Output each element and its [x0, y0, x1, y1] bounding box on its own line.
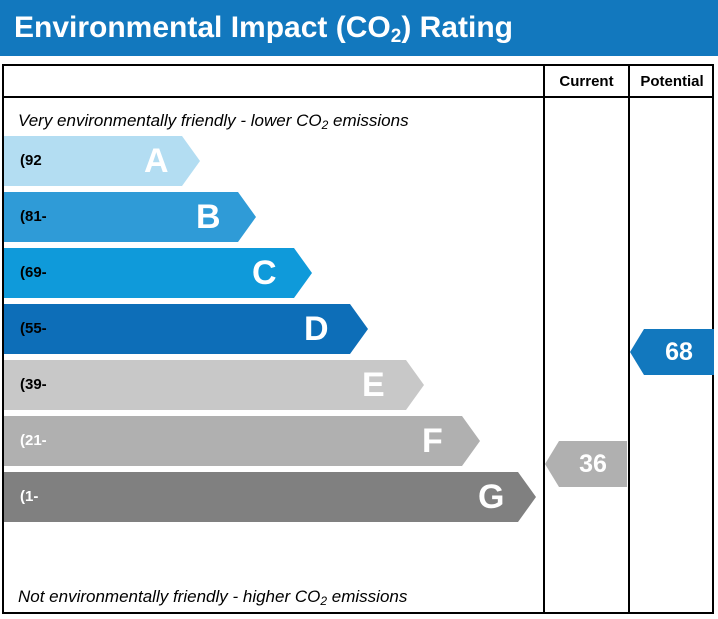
- current-column-header: Current: [545, 70, 628, 94]
- band-bar-f-tip: [462, 416, 480, 466]
- band-range-c: (69-80): [20, 248, 47, 298]
- band-letter-d: D: [304, 304, 329, 354]
- band-range-b: (81-91): [20, 192, 47, 242]
- band-bar-b-tip: [238, 192, 256, 242]
- band-letter-c: C: [252, 248, 277, 298]
- caption-top-suffix: emissions: [328, 111, 408, 130]
- current-rating-marker: 36: [545, 441, 627, 487]
- potential-rating-value-box: 68: [644, 329, 714, 375]
- band-bar-c: [4, 248, 294, 298]
- band-range-a: (92 plus): [20, 136, 56, 186]
- band-letter-b: B: [196, 192, 221, 242]
- potential-column-header: Potential: [630, 70, 714, 94]
- band-letter-g: G: [478, 472, 504, 522]
- chart-title-bar: Environmental Impact (CO2) Rating: [0, 0, 718, 56]
- caption-bottom: Not environmentally friendly - higher CO…: [18, 587, 407, 607]
- band-bar-f: [4, 416, 462, 466]
- current-column-divider: [543, 66, 545, 612]
- band-range-d: (55-68): [20, 304, 47, 354]
- current-rating-value-box: 36: [559, 441, 627, 487]
- header-divider: [4, 96, 712, 98]
- band-range-g: (1-20): [20, 472, 42, 522]
- epc-environmental-impact-chart: Environmental Impact (CO2) Rating Curren…: [0, 0, 718, 619]
- band-bar-e-tip: [406, 360, 424, 410]
- caption-bottom-suffix: emissions: [327, 587, 407, 606]
- potential-rating-marker: 68: [630, 329, 714, 375]
- chart-title-suffix: ) Rating: [401, 11, 513, 44]
- band-bar-g-tip: [518, 472, 536, 522]
- band-letter-e: E: [362, 360, 385, 410]
- current-rating-arrow-icon: [545, 441, 559, 487]
- chart-title: Environmental Impact (CO2) Rating: [14, 11, 513, 45]
- chart-title-subscript: 2: [391, 26, 402, 47]
- caption-top-prefix: Very environmentally friendly - lower CO: [18, 111, 322, 130]
- band-bar-a-tip: [182, 136, 200, 186]
- band-range-f: (21-38): [20, 416, 47, 466]
- band-bar-c-tip: [294, 248, 312, 298]
- band-bar-e: [4, 360, 406, 410]
- caption-bottom-prefix: Not environmentally friendly - higher CO: [18, 587, 320, 606]
- band-letter-f: F: [422, 416, 443, 466]
- caption-top: Very environmentally friendly - lower CO…: [18, 111, 409, 131]
- band-bar-d: [4, 304, 350, 354]
- band-bar-d-tip: [350, 304, 368, 354]
- band-range-e: (39-54): [20, 360, 47, 410]
- caption-bottom-subscript: 2: [320, 594, 327, 608]
- chart-grid: Current Potential Very environmentally f…: [2, 64, 714, 614]
- caption-top-subscript: 2: [322, 118, 329, 132]
- chart-title-prefix: Environmental Impact (CO: [14, 11, 391, 44]
- potential-rating-arrow-icon: [630, 329, 644, 375]
- band-bar-g: [4, 472, 518, 522]
- band-letter-a: A: [144, 136, 169, 186]
